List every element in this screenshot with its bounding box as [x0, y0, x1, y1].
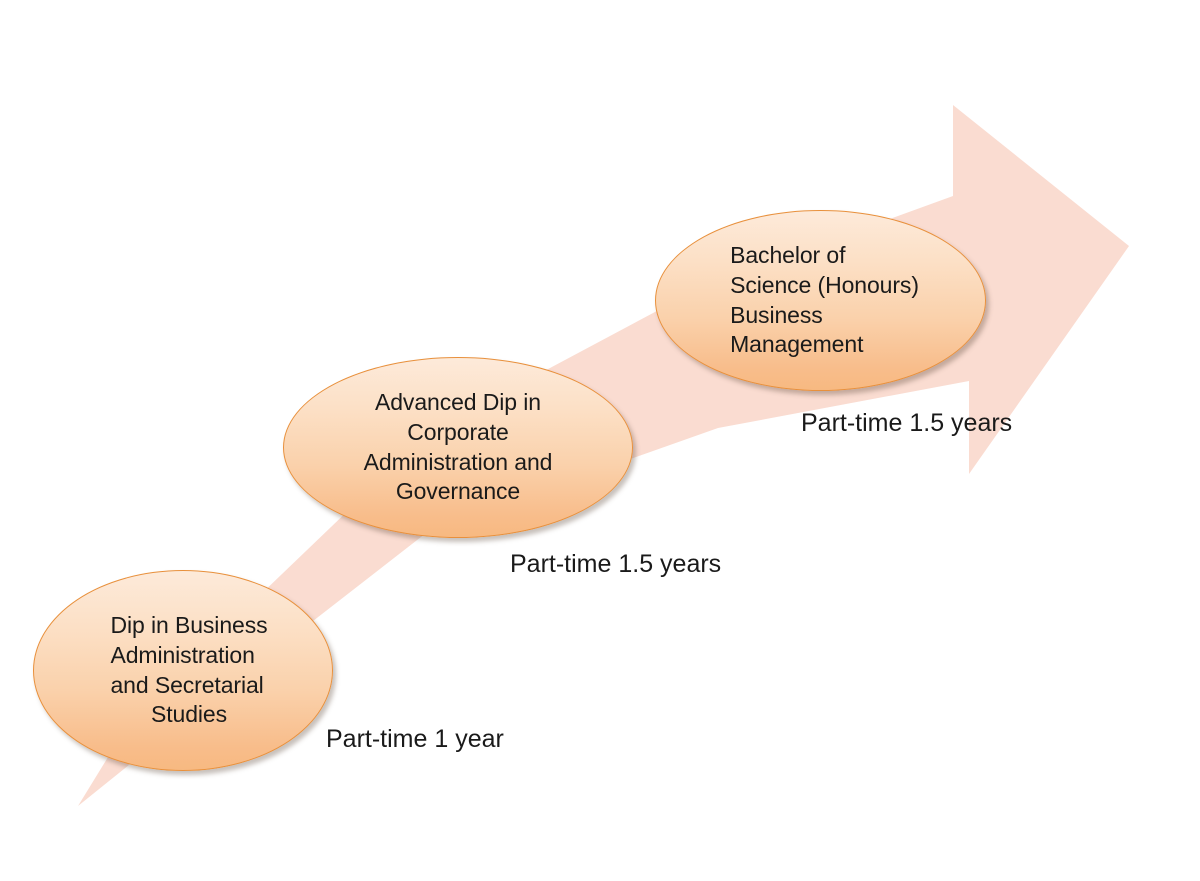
step-duration-caption-1: Part-time 1 year — [326, 724, 504, 754]
step-duration-caption-2: Part-time 1.5 years — [510, 549, 721, 579]
progression-diagram: Dip in Business Administration and Secre… — [0, 0, 1200, 881]
step-node-label-main: Dip in Business Administration and Secre… — [110, 612, 267, 698]
step-node-label: Dip in Business Administration and Secre… — [96, 611, 281, 731]
step-nodes: Dip in Business Administration and Secre… — [0, 0, 1200, 881]
step-node-advanced-dip-corporate-administration[interactable]: Advanced Dip in Corporate Administration… — [283, 357, 633, 538]
step-node-label: Advanced Dip in Corporate Administration… — [350, 388, 567, 508]
step-node-dip-business-administration[interactable]: Dip in Business Administration and Secre… — [33, 570, 333, 771]
step-node-label: Bachelor of Science (Honours) Business M… — [716, 241, 933, 361]
step-duration-caption-3: Part-time 1.5 years — [801, 408, 1012, 438]
step-node-bachelor-science-business-management[interactable]: Bachelor of Science (Honours) Business M… — [655, 210, 986, 391]
step-node-label-last-line: Studies — [110, 700, 267, 730]
